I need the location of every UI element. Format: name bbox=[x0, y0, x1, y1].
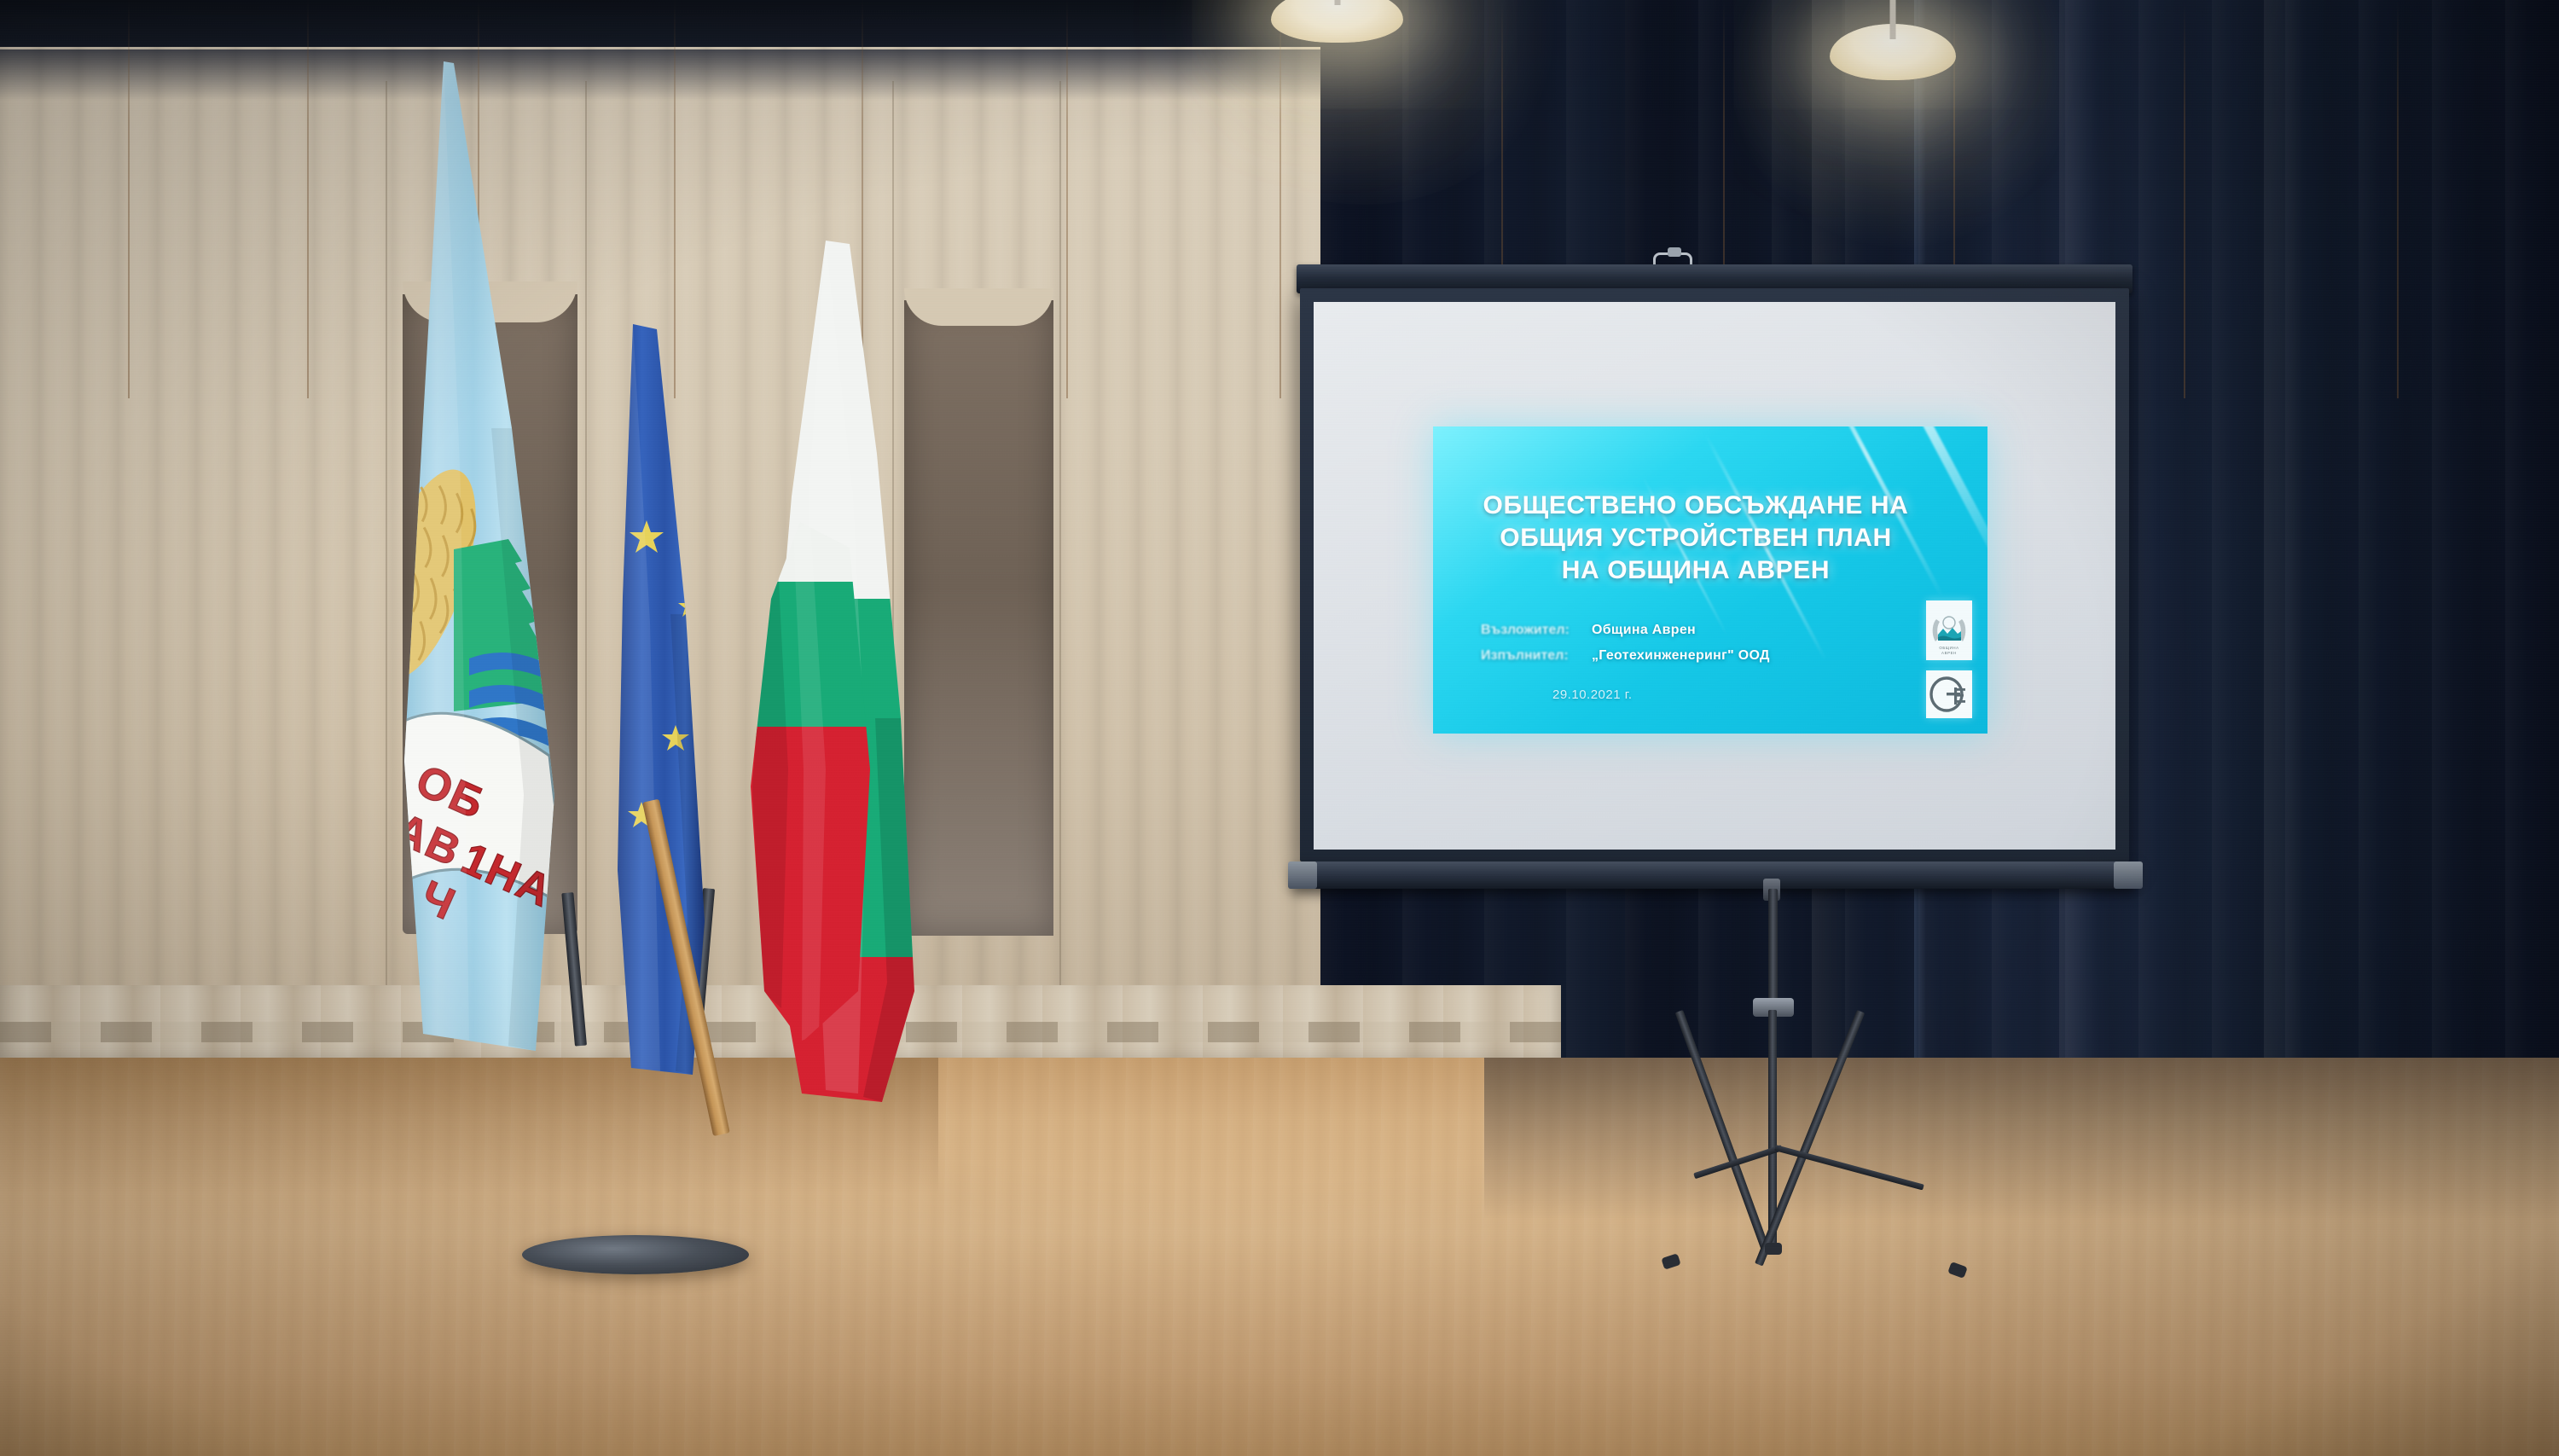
slide-contractor-label: Изпълнител: bbox=[1481, 643, 1585, 669]
screen-housing-cap-right bbox=[2114, 861, 2143, 889]
svg-text:АВРЕН: АВРЕН bbox=[1941, 651, 1957, 655]
ceiling-lamp-1 bbox=[1271, 0, 1403, 43]
projection-screen-unit[interactable]: ОБЩЕСТВЕНО ОБСЪЖДАНЕ НА ОБЩИЯ УСТРОЙСТВЕ… bbox=[1297, 264, 2132, 896]
floor-plank-line bbox=[2397, 0, 2399, 398]
lamp-dome bbox=[1271, 0, 1403, 43]
slide-title-line-2: ОБЩИЯ УСТРОЙСТВЕН ПЛАН bbox=[1457, 522, 1935, 554]
lamp-cord bbox=[1890, 0, 1896, 39]
svg-text:ОБЩИНА: ОБЩИНА bbox=[1939, 646, 1958, 650]
floor-plank-line bbox=[1279, 0, 1281, 398]
avren-municipality-flag: ОБ АВ 1НА Ч bbox=[341, 61, 623, 1085]
screen-bottom-housing bbox=[1291, 861, 2138, 889]
slide-contractor-row: Изпълнител: „Геотехинженеринг" ООД bbox=[1481, 643, 1924, 669]
slide-metadata: Възложител: Община Аврен Изпълнител: „Ге… bbox=[1481, 618, 1924, 669]
presentation-hall-photo: ОБЩЕСТВЕНО ОБСЪЖДАНЕ НА ОБЩИЯ УСТРОЙСТВЕ… bbox=[0, 0, 2559, 1456]
slide-date: 29.10.2021 г. bbox=[1552, 687, 1633, 702]
slide-title-line-3: НА ОБЩИНА АВРЕН bbox=[1457, 554, 1935, 587]
slide-client-label: Възложител: bbox=[1481, 618, 1585, 643]
floor-plank-line bbox=[128, 0, 130, 398]
ceiling-lamp-2 bbox=[1830, 24, 1956, 80]
bulgaria-flag bbox=[699, 241, 1041, 1145]
tripod-leg-front-left bbox=[1675, 1010, 1771, 1253]
flag-stand-base bbox=[522, 1235, 749, 1274]
slide-title: ОБЩЕСТВЕНО ОБСЪЖДАНЕ НА ОБЩИЯ УСТРОЙСТВЕ… bbox=[1457, 490, 1935, 587]
screen-housing-cap-left bbox=[1288, 861, 1317, 889]
projected-slide: ОБЩЕСТВЕНО ОБСЪЖДАНЕ НА ОБЩИЯ УСТРОЙСТВЕ… bbox=[1433, 426, 1987, 734]
slide-client-value: Община Аврен bbox=[1592, 618, 1696, 643]
tripod-foot-middle bbox=[1765, 1243, 1782, 1255]
floor-plank-line bbox=[1066, 0, 1068, 398]
screen-tripod-stand[interactable] bbox=[1668, 889, 2145, 1290]
floor-plank-line bbox=[307, 0, 309, 398]
slide-contractor-value: „Геотехинженеринг" ООД bbox=[1592, 643, 1770, 669]
floor-plank-line bbox=[2184, 0, 2185, 398]
lamp-cord bbox=[1334, 0, 1340, 5]
slide-client-row: Възложител: Община Аврен bbox=[1481, 618, 1924, 643]
geotechengineering-logo-icon bbox=[1926, 670, 1972, 718]
curtain-seam bbox=[1059, 81, 1061, 1019]
navy-curtain-fold bbox=[2264, 0, 2303, 1109]
avren-municipality-logo-icon: ОБЩИНА АВРЕН bbox=[1926, 600, 1972, 660]
tripod-center-column bbox=[1768, 889, 1778, 1008]
slide-title-line-1: ОБЩЕСТВЕНО ОБСЪЖДАНЕ НА bbox=[1457, 490, 1935, 522]
tripod-foot-right bbox=[1947, 1262, 1968, 1279]
